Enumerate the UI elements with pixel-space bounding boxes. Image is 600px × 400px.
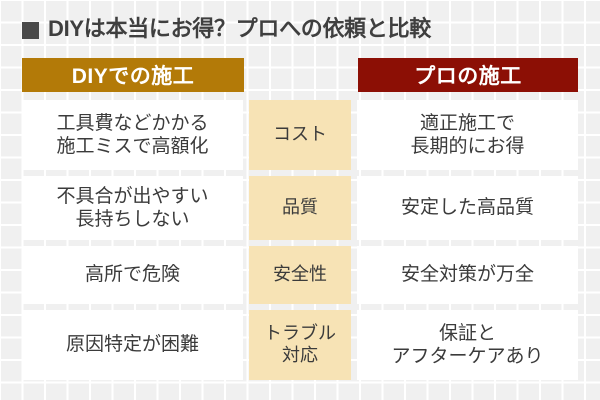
cell-diy-line2: 長持ちしない [56, 208, 208, 231]
cell-diy-line1: 工具費などかかる [56, 112, 208, 135]
cell-pro-line1: 適正施工で [410, 112, 524, 135]
criteria-label-line1: トラブル [264, 323, 336, 345]
cell-diy-line1: 高所で危険 [85, 263, 180, 286]
table-row: 工具費などかかる 施工ミスで高額化 コスト 適正施工で 長期的にお得 [22, 100, 578, 170]
cell-criteria-label: 安全性 [249, 246, 351, 304]
filled-square-icon [22, 22, 39, 39]
column-header-diy-label: DIYでの施工 [72, 60, 195, 90]
column-header-diy: DIYでの施工 [22, 58, 244, 92]
criteria-label-line2: 対応 [264, 345, 336, 367]
cell-pro-line1: 安全対策が万全 [401, 263, 534, 286]
cell-criteria-label: トラブル 対応 [249, 310, 351, 380]
cell-diy-line1: 原因特定が困難 [66, 333, 199, 356]
table-row: 不具合が出やすい 長持ちしない 品質 安定した高品質 [22, 176, 578, 240]
table-row: 高所で危険 安全性 安全対策が万全 [22, 246, 578, 304]
criteria-label-text: 品質 [282, 197, 318, 219]
cell-diy-line2: 施工ミスで高額化 [56, 135, 208, 158]
cell-pro-line2: 長期的にお得 [410, 135, 524, 158]
cell-pro-line2: アフターケアあり [391, 345, 543, 368]
cell-diy: 不具合が出やすい 長持ちしない [22, 176, 243, 240]
comparison-table: 工具費などかかる 施工ミスで高額化 コスト 適正施工で 長期的にお得 不具合が出… [22, 100, 578, 380]
cell-criteria-label: コスト [249, 100, 351, 170]
cell-criteria-label: 品質 [249, 176, 351, 240]
criteria-label-text: コスト [273, 124, 327, 146]
cell-pro: 適正施工で 長期的にお得 [357, 100, 578, 170]
cell-pro: 安全対策が万全 [357, 246, 578, 304]
table-row: 原因特定が困難 トラブル 対応 保証と アフターケアあり [22, 310, 578, 380]
cell-pro: 保証と アフターケアあり [357, 310, 578, 380]
cell-diy: 原因特定が困難 [22, 310, 243, 380]
cell-diy-line1: 不具合が出やすい [56, 185, 208, 208]
cell-pro: 安定した高品質 [357, 176, 578, 240]
cell-pro-line1: 安定した高品質 [401, 196, 534, 219]
page-title: DIYは本当にお得？プロへの依頼と比較 [22, 13, 431, 45]
cell-diy: 工具費などかかる 施工ミスで高額化 [22, 100, 243, 170]
title-label: DIYは本当にお得？プロへの依頼と比較 [48, 18, 431, 40]
cell-diy: 高所で危険 [22, 246, 243, 304]
cell-pro-line1: 保証と [391, 322, 543, 345]
column-header-pro: プロの施工 [358, 58, 578, 92]
column-header-pro-label: プロの施工 [414, 60, 522, 90]
criteria-label-text: 安全性 [273, 264, 327, 286]
comparison-infographic: DIYは本当にお得？プロへの依頼と比較 DIYでの施工 プロの施工 工具費などか… [0, 0, 600, 400]
